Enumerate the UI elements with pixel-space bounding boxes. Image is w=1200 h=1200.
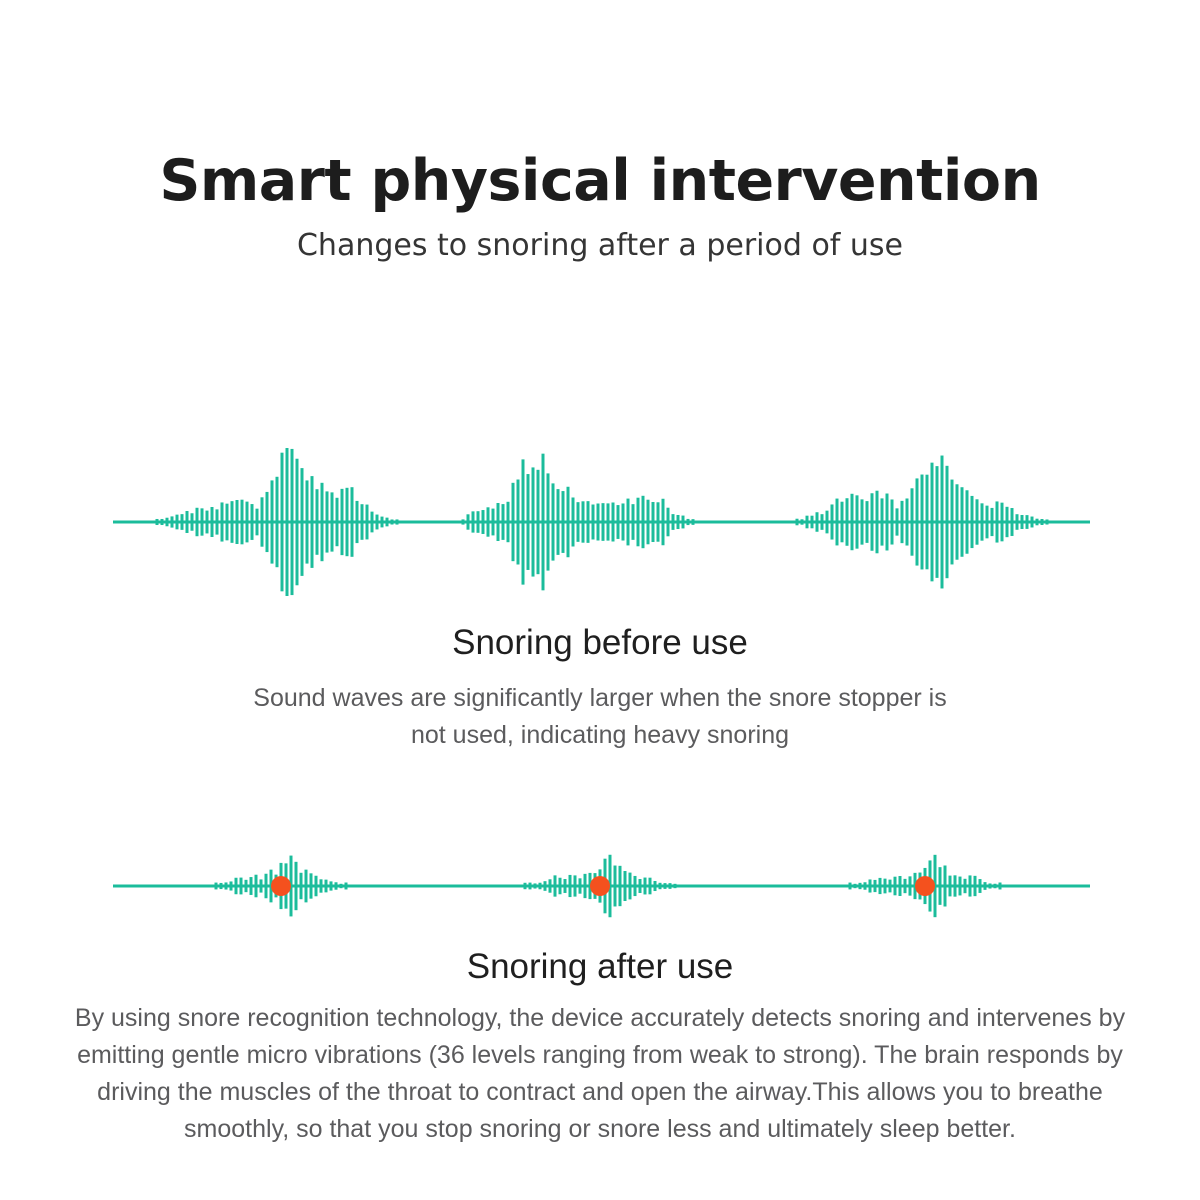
waveform-bar — [281, 453, 284, 592]
waveform-bar — [529, 883, 532, 890]
waveform-bar — [841, 502, 844, 543]
waveform-bar — [1001, 503, 1004, 542]
waveform-bar — [584, 874, 587, 898]
waveform-bar — [941, 456, 944, 589]
waveform-bar — [657, 502, 660, 541]
snoring-after-caption: Snoring after use By using snore recogni… — [0, 944, 1200, 1148]
waveform-bar — [552, 483, 555, 560]
waveform-bar — [851, 494, 854, 550]
waveform-bar — [246, 502, 249, 543]
waveform-bar — [315, 876, 318, 897]
waveform-bar — [652, 502, 655, 542]
waveform-bar — [936, 466, 939, 578]
page-subtitle: Changes to snoring after a period of use — [0, 224, 1200, 268]
waveform-bar — [311, 476, 314, 568]
waveform-bar — [381, 517, 384, 528]
waveform-bar — [330, 881, 333, 890]
waveform-bar — [884, 879, 887, 894]
waveform-bar — [321, 483, 324, 561]
waveform-bar — [340, 884, 343, 888]
waveform-bar — [637, 498, 640, 547]
waveform-bar — [335, 882, 338, 889]
waveform-bar — [467, 514, 470, 529]
waveform-bar — [286, 448, 289, 596]
waveform-bar — [911, 488, 914, 555]
waveform-bar — [961, 487, 964, 557]
waveform-bar — [951, 480, 954, 565]
waveform-bar — [577, 502, 580, 542]
waveform-bar — [361, 504, 364, 540]
waveform-bar — [1046, 519, 1049, 524]
waveform-bar — [949, 876, 952, 897]
waveform-bar — [592, 505, 595, 540]
snore-detection-marker — [915, 876, 935, 896]
waveform-bar — [959, 877, 962, 896]
waveform-bar — [291, 449, 294, 595]
waveform-bar — [674, 884, 677, 888]
waveform-bar — [512, 483, 515, 561]
waveform-bar — [1011, 508, 1014, 536]
waveform-bar — [644, 878, 647, 895]
waveform-bar — [624, 871, 627, 901]
waveform-bar — [341, 489, 344, 555]
waveform-bar — [864, 882, 867, 889]
waveform-bar — [662, 499, 665, 545]
waveform-bar — [677, 515, 680, 529]
waveform-bar — [230, 881, 233, 890]
waveform-bar — [522, 459, 525, 584]
waveform-bar — [806, 516, 809, 529]
waveform-bar — [539, 883, 542, 890]
waveform-bar — [854, 884, 857, 888]
waveform-bar — [236, 500, 239, 544]
waveform-bar — [826, 511, 829, 534]
waveform-bar — [944, 866, 947, 907]
waveform-bar — [492, 509, 495, 536]
snoring-before-caption: Snoring before use Sound waves are signi… — [0, 620, 1200, 754]
waveform-bar — [1036, 519, 1039, 526]
waveform-bar — [497, 503, 500, 541]
waveform-bar — [906, 498, 909, 545]
waveform-bar — [245, 880, 248, 892]
waveform-bar — [216, 509, 219, 534]
waveform-bar — [981, 503, 984, 540]
waveform-bar — [569, 875, 572, 897]
snoring-before-waveform — [0, 432, 1200, 612]
waveform-bar — [250, 877, 253, 895]
waveform-bar — [836, 499, 839, 546]
waveform-bar — [301, 468, 304, 576]
waveform-bar — [881, 498, 884, 545]
snore-stopper-infographic: Smart physical intervention Changes to s… — [0, 0, 1200, 1200]
waveform-bar — [241, 500, 244, 545]
waveform-bar — [617, 505, 620, 539]
waveform-bar — [879, 878, 882, 894]
waveform-bar — [351, 487, 354, 557]
waveform-bar — [256, 509, 259, 536]
waveform-bar — [477, 511, 480, 533]
waveform-bar — [325, 880, 328, 893]
waveform-bar — [632, 504, 635, 540]
waveform-bar — [346, 488, 349, 556]
waveform-bar — [1006, 507, 1009, 537]
waveform-bar — [986, 506, 989, 539]
waveform-bar — [647, 500, 650, 545]
waveform-bar — [574, 875, 577, 896]
waveform-bar — [527, 474, 530, 570]
waveform-bar — [894, 877, 897, 896]
waveform-bar — [597, 504, 600, 541]
waveform-bar — [316, 489, 319, 555]
waveform-bar — [682, 516, 685, 529]
waveform-bar — [664, 883, 667, 889]
waveform-bar — [956, 484, 959, 559]
waveform-bar — [979, 879, 982, 893]
waveform-bar — [181, 514, 184, 530]
waveform-bar — [969, 875, 972, 896]
waveform-bar — [251, 504, 254, 540]
waveform-bar — [692, 519, 695, 525]
waveform-bar — [579, 878, 582, 893]
waveform-bar — [220, 883, 223, 889]
waveform-bar — [231, 501, 234, 543]
waveform-bar — [537, 470, 540, 574]
page-title: Smart physical intervention — [0, 146, 1200, 216]
waveform-bar — [931, 463, 934, 582]
waveform-bar — [171, 516, 174, 527]
waveform-bar — [221, 502, 224, 541]
waveform-bar — [901, 501, 904, 543]
waveform-bar — [544, 881, 547, 891]
waveform-bar — [659, 883, 662, 889]
waveform-bar — [562, 491, 565, 553]
snoring-after-wave-block — [0, 838, 1200, 934]
waveform-bar — [235, 878, 238, 894]
waveform-bar — [240, 878, 243, 895]
waveform-bar — [572, 498, 575, 547]
waveform-bar — [629, 873, 632, 900]
waveform-bar — [939, 867, 942, 905]
waveform-bar — [305, 870, 308, 903]
waveform-bar — [974, 876, 977, 896]
waveform-bar — [627, 499, 630, 546]
waveform-bar — [964, 879, 967, 893]
waveform-bar — [619, 866, 622, 906]
waveform-bar — [487, 507, 490, 536]
waveform-bar — [859, 883, 862, 889]
waveform-bar — [276, 477, 279, 567]
waveform-bar — [889, 880, 892, 893]
snoring-after-heading: Snoring after use — [0, 944, 1200, 990]
waveform-bar — [849, 883, 852, 890]
waveform-bar — [376, 515, 379, 530]
waveform-bar — [921, 475, 924, 570]
waveform-bar — [876, 491, 879, 554]
waveform-bar — [547, 473, 550, 570]
waveform-bar — [926, 475, 929, 570]
snoring-before-heading: Snoring before use — [0, 620, 1200, 666]
waveform-bar — [821, 514, 824, 530]
waveform-bar — [532, 467, 535, 576]
waveform-bar — [916, 478, 919, 565]
waveform-bar — [396, 519, 399, 524]
waveform-bar — [564, 879, 567, 893]
waveform-bar — [904, 879, 907, 893]
waveform-bar — [166, 518, 169, 527]
waveform-bar — [861, 499, 864, 544]
waveform-bar — [909, 876, 912, 895]
waveform-bar — [306, 480, 309, 563]
waveform-bar — [796, 519, 799, 526]
waveform-bar — [607, 503, 610, 540]
waveform-bar — [211, 507, 214, 537]
waveform-bar — [271, 480, 274, 563]
waveform-bar — [622, 503, 625, 540]
waveform-bar — [946, 466, 949, 578]
waveform-bar — [462, 519, 465, 524]
waveform-bar — [869, 879, 872, 892]
waveform-bar — [266, 492, 269, 552]
waveform-bar — [296, 459, 299, 586]
waveform-bar — [265, 874, 268, 899]
waveform-bar — [1041, 519, 1044, 525]
waveform-bar — [667, 508, 670, 537]
waveform-bar — [874, 880, 877, 892]
waveform-bar — [186, 511, 189, 533]
waveform-bar — [201, 508, 204, 535]
waveform-bar — [954, 875, 957, 896]
waveform-bar — [225, 882, 228, 889]
waveform-bar — [801, 519, 804, 524]
waveform-bar — [534, 883, 537, 888]
waveform-bar — [672, 514, 675, 530]
waveform-bar — [261, 497, 264, 546]
waveform-bar — [996, 501, 999, 542]
waveform-bar — [602, 503, 605, 541]
waveform-bar — [336, 498, 339, 546]
waveform-bar — [567, 487, 570, 557]
waveform-bar — [156, 519, 159, 525]
waveform-bar — [366, 505, 369, 540]
waveform-bar — [300, 873, 303, 899]
waveform-bar — [542, 454, 545, 591]
snoring-after-body: By using snore recognition technology, t… — [63, 1000, 1138, 1148]
waveform-bar — [831, 504, 834, 539]
waveform-bar — [994, 884, 997, 889]
waveform-bar — [687, 519, 690, 525]
waveform-bar — [871, 493, 874, 551]
waveform-bar — [260, 879, 263, 892]
waveform-bar — [989, 883, 992, 888]
snoring-before-body: Sound waves are significantly larger whe… — [250, 680, 950, 754]
waveform-bar — [326, 491, 329, 552]
waveform-bar — [255, 875, 258, 898]
waveform-bar — [391, 519, 394, 524]
waveform-bar — [557, 489, 560, 555]
waveform-bar — [502, 504, 505, 540]
waveform-bar — [816, 512, 819, 532]
waveform-bar — [669, 883, 672, 889]
waveform-bar — [320, 879, 323, 892]
waveform-bar — [386, 518, 389, 527]
waveform-bar — [371, 512, 374, 533]
waveform-bar — [472, 511, 475, 532]
waveform-bar — [1031, 517, 1034, 528]
waveform-bar — [517, 480, 520, 565]
waveform-bar — [507, 502, 510, 542]
waveform-bar — [649, 878, 652, 895]
waveform-bar — [356, 501, 359, 543]
waveform-bar — [161, 519, 164, 525]
waveform-bar — [587, 501, 590, 543]
waveform-bar — [984, 882, 987, 890]
waveform-bar — [612, 503, 615, 542]
waveform-bar — [554, 875, 557, 896]
waveform-bar — [856, 495, 859, 548]
snore-detection-marker — [590, 876, 610, 896]
waveform-bar — [549, 879, 552, 892]
waveform-bar — [310, 873, 313, 898]
waveform-bar — [976, 499, 979, 544]
waveform-bar — [582, 501, 585, 542]
waveform-bar — [999, 883, 1002, 890]
waveform-bar — [191, 513, 194, 530]
waveform-bar — [971, 496, 974, 548]
waveform-bar — [811, 516, 814, 529]
snoring-after-waveform — [0, 838, 1200, 934]
waveform-bar — [215, 883, 218, 890]
waveform-bar — [634, 876, 637, 896]
waveform-bar — [176, 515, 179, 530]
waveform-bar — [642, 496, 645, 548]
waveform-bar — [331, 492, 334, 551]
waveform-bar — [1016, 514, 1019, 530]
waveform-bar — [226, 504, 229, 541]
waveform-bar — [482, 510, 485, 534]
waveform-bar — [206, 511, 209, 534]
waveform-bar — [614, 866, 617, 907]
waveform-bar — [991, 508, 994, 536]
waveform-bar — [846, 498, 849, 546]
waveform-bar — [196, 508, 199, 536]
waveform-bar — [654, 881, 657, 891]
waveform-bar — [1021, 515, 1024, 529]
waveform-bar — [899, 876, 902, 896]
waveform-bar — [559, 878, 562, 895]
snoring-before-wave-block — [0, 432, 1200, 612]
waveform-bar — [886, 494, 889, 551]
waveform-bar — [639, 879, 642, 893]
page-header: Smart physical intervention Changes to s… — [0, 146, 1200, 268]
waveform-bar — [866, 501, 869, 543]
waveform-bar — [524, 883, 527, 889]
waveform-bar — [891, 499, 894, 544]
waveform-bar — [896, 508, 899, 535]
waveform-bar — [345, 883, 348, 890]
waveform-bar — [295, 862, 298, 910]
waveform-bar — [966, 490, 969, 553]
snore-detection-marker — [271, 876, 291, 896]
waveform-bar — [1026, 515, 1029, 529]
